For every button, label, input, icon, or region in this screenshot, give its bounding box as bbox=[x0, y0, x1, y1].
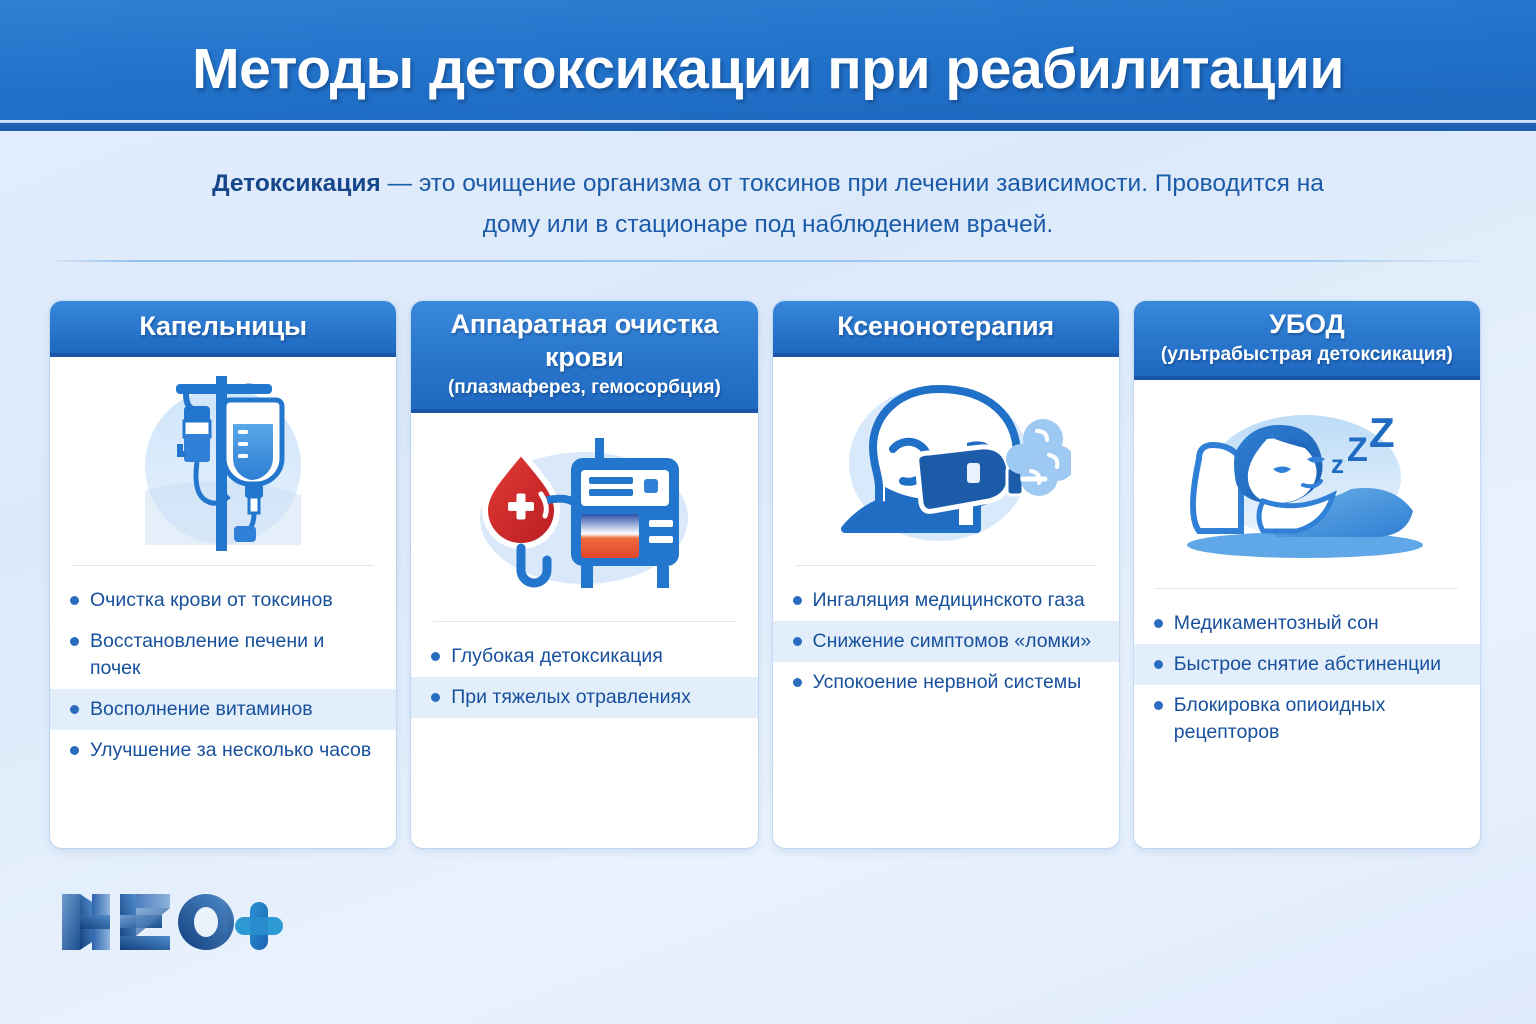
list-item-label: Успокоение нервной системы bbox=[813, 669, 1082, 696]
bullet-dot-icon bbox=[431, 652, 440, 661]
intro-paragraph: Детоксикация — это очищение организма от… bbox=[188, 163, 1348, 245]
list-item: Успокоение нервной системы bbox=[773, 662, 1119, 703]
method-card-xenon-therapy[interactable]: Ксенонотерапия bbox=[773, 301, 1119, 848]
logo-letter-e bbox=[120, 894, 170, 950]
card-title: Капельницы bbox=[60, 310, 386, 343]
svg-text:Z: Z bbox=[1369, 409, 1395, 456]
benefit-list: Глубокая детоксикация При тяжелых отравл… bbox=[411, 622, 757, 848]
card-title: Аппаратная очистка крови bbox=[421, 308, 747, 374]
list-item-label: При тяжелых отравлениях bbox=[451, 684, 691, 711]
svg-text:z: z bbox=[1331, 449, 1344, 479]
bullet-dot-icon bbox=[793, 596, 802, 605]
list-item-label: Ингаляция медицинското газа bbox=[813, 587, 1085, 614]
inhalation-mask-icon bbox=[773, 357, 1119, 565]
list-item-label: Блокировка опиоидных рецепторов bbox=[1174, 692, 1462, 746]
bullet-dot-icon bbox=[793, 637, 802, 646]
list-item: Очистка крови от токсинов bbox=[50, 580, 396, 621]
list-item: Медикаментозный сон bbox=[1134, 603, 1480, 644]
benefit-list: Очистка крови от токсинов Восстановление… bbox=[50, 566, 396, 848]
page-title: Методы детоксикации при реабилитации bbox=[0, 36, 1536, 102]
card-subtitle: (плазмаферез, гемосорбция) bbox=[421, 375, 747, 401]
list-item-label: Глубокая детоксикация bbox=[451, 643, 663, 670]
logo-plus-icon bbox=[235, 902, 283, 950]
intro-bold-term: Детоксикация bbox=[212, 170, 381, 197]
iv-drip-icon bbox=[50, 357, 396, 565]
bullet-dot-icon bbox=[793, 678, 802, 687]
list-item-label: Медикаментозный сон bbox=[1174, 610, 1379, 637]
card-header: УБОД (ультрабыстрая детоксикация) bbox=[1134, 301, 1480, 380]
section-divider bbox=[56, 260, 1480, 262]
card-header: Аппаратная очистка крови (плазмаферез, г… bbox=[411, 301, 757, 413]
list-item-label: Снижение симптомов «ломки» bbox=[813, 628, 1092, 655]
list-item-label: Восстановление печени и почек bbox=[90, 628, 378, 682]
bullet-dot-icon bbox=[70, 746, 79, 755]
method-card-iv-drip[interactable]: Капельницы bbox=[50, 301, 396, 848]
logo-letter-n bbox=[62, 894, 110, 950]
neo-plus-logo bbox=[58, 888, 288, 956]
bullet-dot-icon bbox=[70, 596, 79, 605]
list-item: Ингаляция медицинското газа bbox=[773, 580, 1119, 621]
sleeping-patient-icon: z Z Z bbox=[1134, 380, 1480, 588]
card-subtitle: (ультрабыстрая детоксикация) bbox=[1144, 342, 1470, 368]
bullet-dot-icon bbox=[431, 693, 440, 702]
card-header: Ксенонотерапия bbox=[773, 301, 1119, 357]
list-item-label: Быстрое снятие абстиненции bbox=[1174, 651, 1441, 678]
list-item: Восстановление печени и почек bbox=[50, 621, 396, 689]
list-item-label: Улучшение за несколько часов bbox=[90, 737, 371, 764]
card-title: УБОД bbox=[1144, 308, 1470, 341]
method-card-blood-purification[interactable]: Аппаратная очистка крови (плазмаферез, г… bbox=[411, 301, 757, 848]
methods-card-grid: Капельницы bbox=[50, 301, 1480, 848]
list-item-label: Восполнение витаминов bbox=[90, 696, 313, 723]
card-header: Капельницы bbox=[50, 301, 396, 357]
benefit-list: Ингаляция медицинското газа Снижение сим… bbox=[773, 566, 1119, 848]
logo-letter-o bbox=[178, 894, 234, 950]
list-item: Восполнение витаминов bbox=[50, 689, 396, 730]
svg-text:Z: Z bbox=[1347, 431, 1368, 469]
bullet-dot-icon bbox=[1154, 701, 1163, 710]
bullet-dot-icon bbox=[70, 705, 79, 714]
list-item-label: Очистка крови от токсинов bbox=[90, 587, 333, 614]
list-item: Блокировка опиоидных рецепторов bbox=[1134, 685, 1480, 753]
list-item: Глубокая детоксикация bbox=[411, 636, 757, 677]
card-title: Ксенонотерапия bbox=[783, 310, 1109, 343]
bullet-dot-icon bbox=[70, 637, 79, 646]
bullet-dot-icon bbox=[1154, 619, 1163, 628]
blood-purification-machine-icon bbox=[411, 413, 757, 621]
list-item: Быстрое снятие абстиненции bbox=[1134, 644, 1480, 685]
intro-rest-text: — это очищение организма от токсинов при… bbox=[381, 170, 1324, 238]
bullet-dot-icon bbox=[1154, 660, 1163, 669]
list-item: Улучшение за несколько часов bbox=[50, 730, 396, 771]
list-item: Снижение симптомов «ломки» bbox=[773, 621, 1119, 662]
list-item: При тяжелых отравлениях bbox=[411, 677, 757, 718]
page-banner: Методы детоксикации при реабилитации bbox=[0, 0, 1536, 131]
benefit-list: Медикаментозный сон Быстрое снятие абсти… bbox=[1134, 589, 1480, 848]
method-card-ubod[interactable]: УБОД (ультрабыстрая детоксикация) bbox=[1134, 301, 1480, 848]
